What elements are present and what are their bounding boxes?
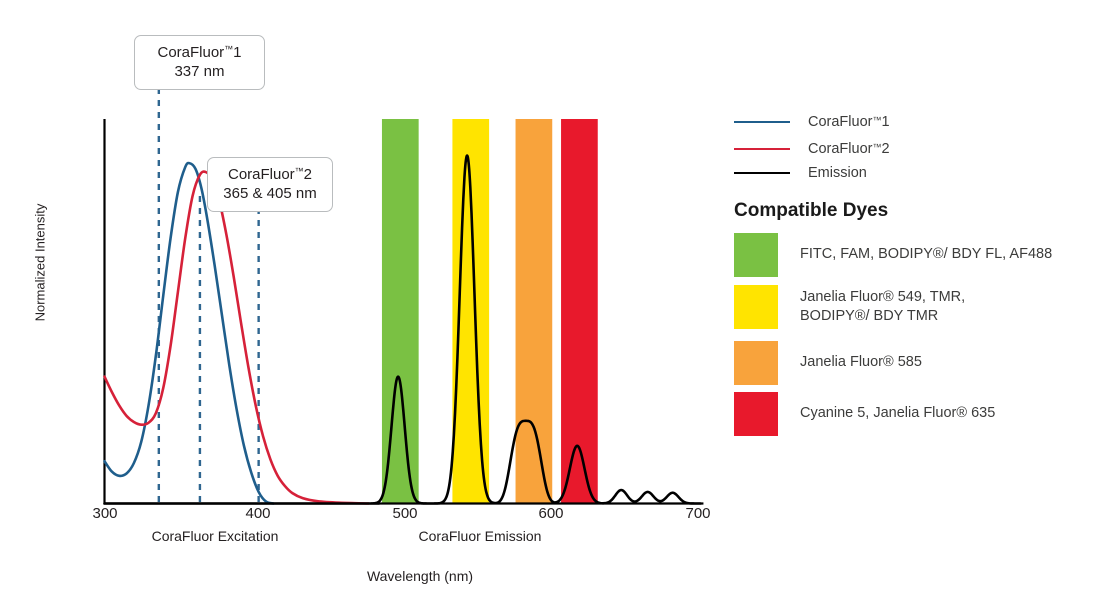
legend-panel: CoraFluor™1 CoraFluor™2 Emission Compati… [730, 0, 1110, 612]
dye-swatch-green [734, 233, 778, 277]
dye-swatch-orange [734, 341, 778, 385]
legend-label-emission: Emission [808, 165, 867, 181]
dye-label-orange: Janelia Fluor® 585 [800, 353, 922, 372]
x-tick-600: 600 [521, 505, 581, 522]
dye-swatch-red [734, 392, 778, 436]
callout-corafluor1-value: 337 nm [145, 62, 254, 81]
compatible-dyes-title: Compatible Dyes [734, 200, 888, 222]
dye-row-red: Cyanine 5, Janelia Fluor® 635 [734, 392, 995, 436]
dye-label-red: Cyanine 5, Janelia Fluor® 635 [800, 404, 995, 423]
legend-item-corafluor1: CoraFluor™1 [734, 112, 890, 132]
legend-item-emission: Emission [734, 163, 867, 183]
x-tick-400: 400 [228, 505, 288, 522]
y-axis-label: Normalized Intensity [33, 163, 48, 363]
callout-corafluor2-title: CoraFluor™2 [218, 165, 322, 184]
legend-label-corafluor2: CoraFluor™2 [808, 141, 890, 157]
dye-label-yellow: Janelia Fluor® 549, TMR, BODIPY®/ BDY TM… [800, 288, 965, 326]
orange-band [516, 119, 553, 504]
dye-row-orange: Janelia Fluor® 585 [734, 341, 922, 385]
x-axis-title: Wavelength (nm) [330, 568, 510, 584]
curve-corafluor2 [105, 172, 369, 504]
legend-line-swatch-corafluor2 [734, 148, 790, 150]
region-label-emission: CoraFluor Emission [405, 528, 555, 544]
callout-corafluor2: CoraFluor™2 365 & 405 nm [207, 157, 333, 212]
dye-row-yellow: Janelia Fluor® 549, TMR, BODIPY®/ BDY TM… [734, 285, 965, 329]
plot-area: Normalized Intensity 300 400 500 600 700… [0, 0, 730, 612]
callout-corafluor2-value: 365 & 405 nm [218, 184, 322, 203]
x-tick-500: 500 [375, 505, 435, 522]
legend-line-swatch-corafluor1 [734, 121, 790, 123]
legend-label-corafluor1: CoraFluor™1 [808, 114, 890, 130]
callout-corafluor1: CoraFluor™1 337 nm [134, 35, 265, 90]
x-tick-700: 700 [668, 505, 728, 522]
dye-row-green: FITC, FAM, BODIPY®/ BDY FL, AF488 [734, 233, 1052, 277]
x-tick-300: 300 [75, 505, 135, 522]
legend-line-swatch-emission [734, 172, 790, 174]
dye-swatch-yellow [734, 285, 778, 329]
chart-root: Normalized Intensity 300 400 500 600 700… [0, 0, 1110, 612]
dye-band-group [382, 119, 598, 504]
region-label-excitation: CoraFluor Excitation [140, 528, 290, 544]
callout-corafluor1-title: CoraFluor™1 [145, 43, 254, 62]
legend-item-corafluor2: CoraFluor™2 [734, 139, 890, 159]
dye-label-green: FITC, FAM, BODIPY®/ BDY FL, AF488 [800, 245, 1052, 264]
green-band [382, 119, 419, 504]
